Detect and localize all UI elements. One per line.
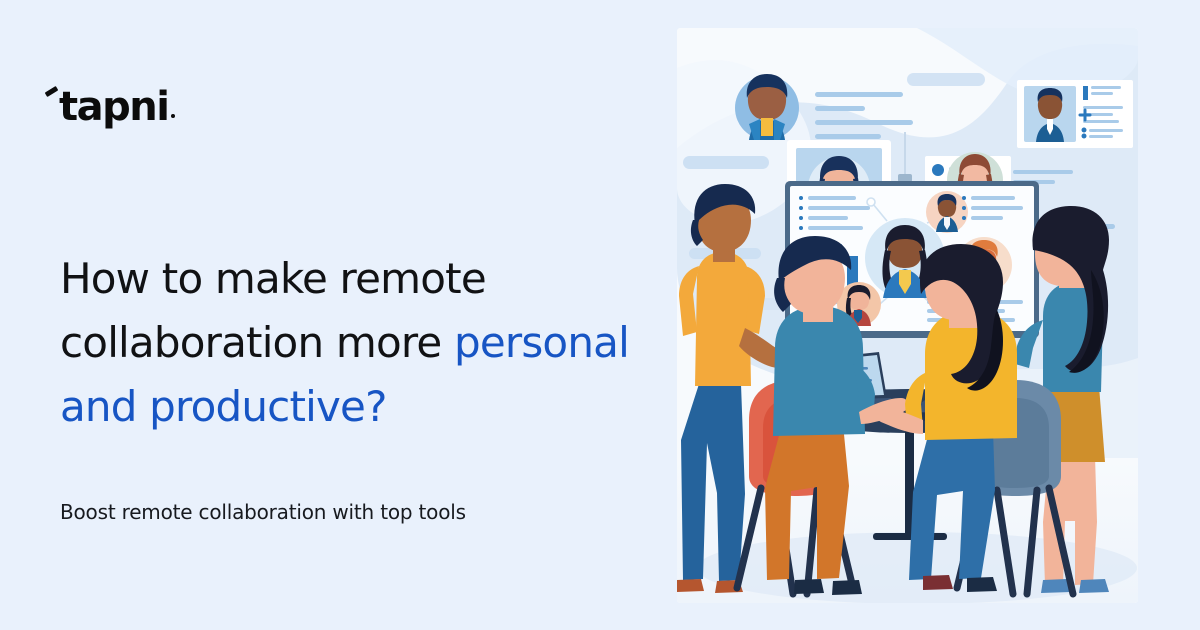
text-column: tapni How to make remote collaboration m… <box>0 0 660 630</box>
avatar-person-1 <box>747 74 788 140</box>
page-subtitle: Boost remote collaboration with top tool… <box>60 500 620 524</box>
chart-card-dot <box>932 164 944 176</box>
page-title: How to make remote collaboration more pe… <box>60 247 640 438</box>
headline-plain: How to make remote collaboration more <box>60 254 486 367</box>
tapni-logo[interactable]: tapni <box>59 83 175 127</box>
video-call-participant-top <box>926 191 968 233</box>
logo-dot-icon <box>171 114 175 118</box>
ui-pill-1 <box>683 156 769 169</box>
ui-pill-4 <box>907 73 985 86</box>
illustration-svg <box>677 28 1138 603</box>
logo-wordmark: tapni <box>59 87 175 127</box>
logo-text: tapni <box>59 84 168 130</box>
tapni-tick-mark-icon <box>45 86 59 97</box>
share-card-canvas: tapni How to make remote collaboration m… <box>0 0 1200 630</box>
remote-collaboration-illustration <box>677 28 1138 603</box>
profile-card-man <box>1017 80 1133 148</box>
